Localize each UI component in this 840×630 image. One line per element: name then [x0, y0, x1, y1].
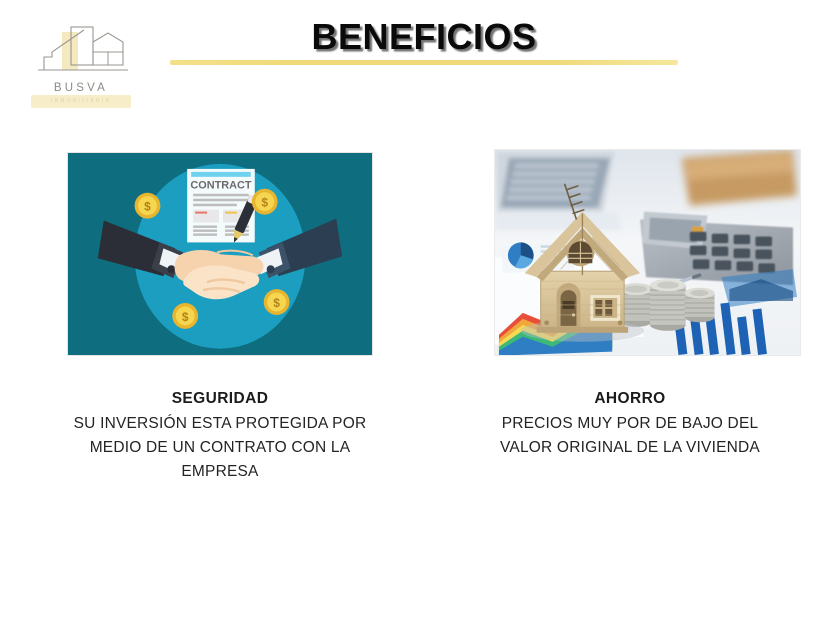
benefit-caption-seguridad: SEGURIDAD SU INVERSIÓN ESTA PROTEGIDA PO…	[40, 388, 400, 484]
benefit-caption-ahorro: AHORRO PRECIOS MUY POR DE BAJO DEL VALOR…	[450, 388, 810, 460]
title-underline-rule	[170, 60, 678, 65]
svg-text:$: $	[182, 310, 189, 324]
house-model-coins-photo	[494, 149, 801, 356]
svg-text:$: $	[261, 196, 268, 210]
logo-wordmark: BUSVA	[22, 82, 140, 94]
handshake-contract-illustration: CONTRACT	[67, 152, 373, 356]
benefit-body: PRECIOS MUY POR DE BAJO DEL VALOR ORIGIN…	[450, 412, 810, 460]
building-outline-icon	[22, 24, 140, 82]
page-title: BENEFICIOS	[170, 16, 678, 58]
benefit-body-line: PRECIOS MUY POR DE BAJO DEL	[450, 412, 810, 436]
benefit-body-line: SU INVERSIÓN ESTA PROTEGIDA POR	[40, 412, 400, 436]
benefit-body-line: MEDIO DE UN CONTRATO CON LA	[40, 436, 400, 460]
svg-text:$: $	[273, 296, 280, 310]
benefit-body: SU INVERSIÓN ESTA PROTEGIDA POR MEDIO DE…	[40, 412, 400, 484]
benefit-heading: AHORRO	[450, 388, 810, 410]
benefit-heading: SEGURIDAD	[40, 388, 400, 410]
brand-logo: BUSVA INMOBILIARIA	[22, 24, 140, 110]
logo-tagline: INMOBILIARIA	[22, 98, 140, 104]
benefit-body-line: EMPRESA	[40, 460, 400, 484]
benefit-body-line: VALOR ORIGINAL DE LA VIVIENDA	[450, 436, 810, 460]
svg-text:$: $	[144, 200, 151, 214]
svg-text:CONTRACT: CONTRACT	[190, 180, 252, 192]
